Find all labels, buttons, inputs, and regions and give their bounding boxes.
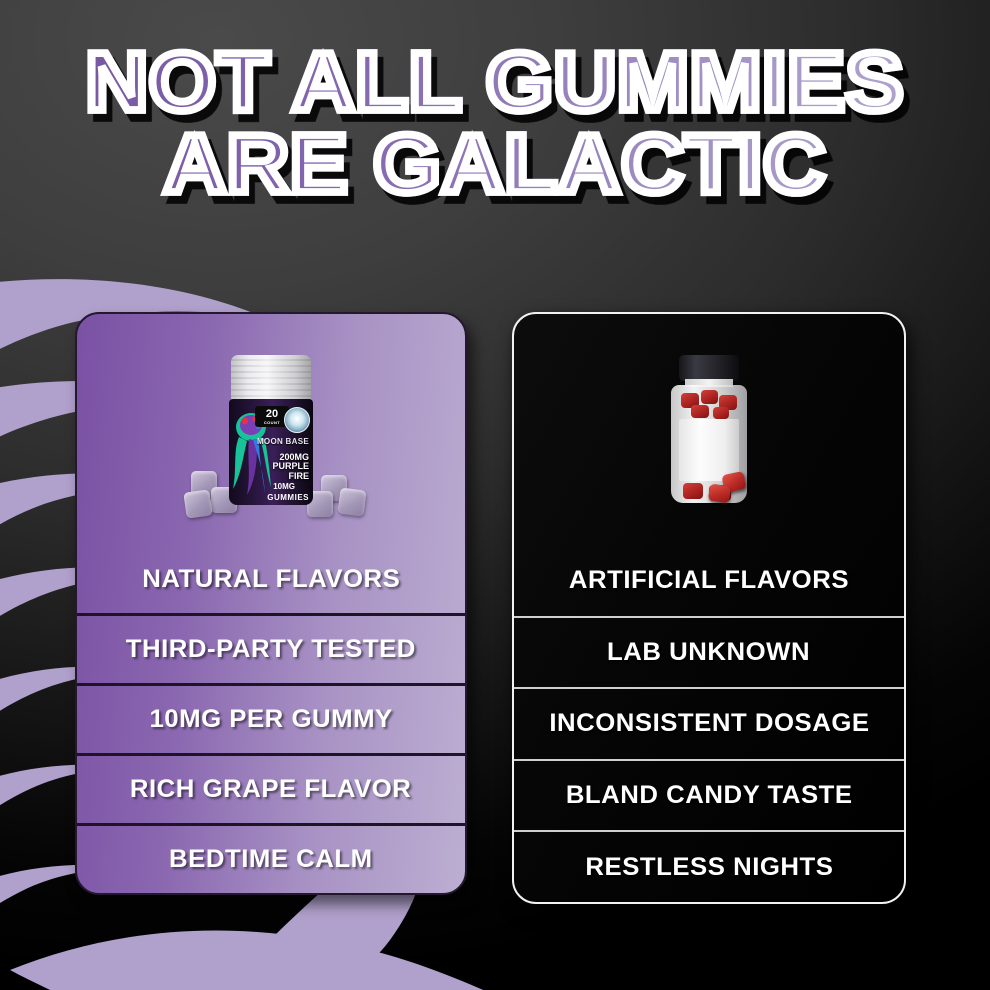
jar-lid	[231, 355, 311, 401]
feature-label: LAB UNKNOWN	[607, 638, 810, 667]
blank-label	[679, 419, 739, 481]
feature-label: 10MG PER GUMMY	[149, 705, 392, 734]
feature-label: INCONSISTENT DOSAGE	[549, 709, 869, 738]
feature-label: BLAND CANDY TASTE	[566, 781, 853, 810]
list-item: 10MG PER GUMMY	[77, 683, 465, 753]
bottle-cap	[679, 355, 739, 381]
list-item: BEDTIME CALM	[77, 823, 465, 893]
gummy-icon	[713, 407, 729, 419]
card-galactic-gummies: 20 COUNT MOON BASE 200MG PURPLE FIRE 10M…	[75, 312, 467, 895]
list-item: ARTIFICIAL FLAVORS	[514, 546, 904, 616]
list-item: RICH GRAPE FLAVOR	[77, 753, 465, 823]
card-ordinary-gummies: ARTIFICIAL FLAVORS LAB UNKNOWN INCONSIST…	[512, 312, 906, 904]
feature-label: ARTIFICIAL FLAVORS	[569, 566, 849, 595]
brand-name: MOON BASE	[253, 437, 309, 446]
feature-label: BEDTIME CALM	[169, 845, 373, 874]
feature-label: RICH GRAPE FLAVOR	[130, 775, 412, 804]
list-item: BLAND CANDY TASTE	[514, 759, 904, 831]
galactic-product-hero: 20 COUNT MOON BASE 200MG PURPLE FIRE 10M…	[77, 314, 465, 546]
gummy-cube-icon	[338, 488, 367, 517]
product-dose: 10MG	[273, 482, 295, 491]
list-item: RESTLESS NIGHTS	[514, 830, 904, 902]
comparison-graphic: NOT ALL GUMMIES ARE GALACTIC	[0, 0, 990, 990]
list-item: THIRD-PARTY TESTED	[77, 613, 465, 683]
gummy-icon	[691, 405, 709, 418]
feature-label: THIRD-PARTY TESTED	[126, 635, 416, 664]
product-strength: 200MG PURPLE FIRE	[251, 453, 309, 481]
feature-label: RESTLESS NIGHTS	[585, 853, 833, 882]
count-number: 20	[266, 409, 278, 420]
count-unit: COUNT	[264, 420, 280, 425]
ordinary-feature-list: ARTIFICIAL FLAVORS LAB UNKNOWN INCONSIST…	[514, 546, 904, 902]
gummy-icon	[683, 483, 703, 499]
headline-line-1: NOT ALL GUMMIES	[0, 44, 990, 120]
galactic-gummies-jar: 20 COUNT MOON BASE 200MG PURPLE FIRE 10M…	[225, 355, 317, 505]
loose-gummy-icon	[708, 483, 732, 503]
page-title: NOT ALL GUMMIES ARE GALACTIC	[0, 48, 990, 198]
product-type: GUMMIES	[267, 493, 309, 502]
list-item: INCONSISTENT DOSAGE	[514, 687, 904, 759]
feature-label: NATURAL FLAVORS	[142, 565, 400, 594]
gummy-icon	[701, 390, 718, 404]
ordinary-product-hero	[514, 314, 904, 546]
brand-logo-icon	[284, 407, 310, 433]
headline-line-2: ARE GALACTIC	[0, 126, 990, 202]
list-item: NATURAL FLAVORS	[77, 546, 465, 613]
generic-gummies-bottle	[665, 355, 753, 505]
gummy-cube-icon	[183, 489, 212, 518]
list-item: LAB UNKNOWN	[514, 616, 904, 688]
jar-label: 20 COUNT MOON BASE 200MG PURPLE FIRE 10M…	[229, 399, 313, 505]
galactic-feature-list: NATURAL FLAVORS THIRD-PARTY TESTED 10MG …	[77, 546, 465, 893]
